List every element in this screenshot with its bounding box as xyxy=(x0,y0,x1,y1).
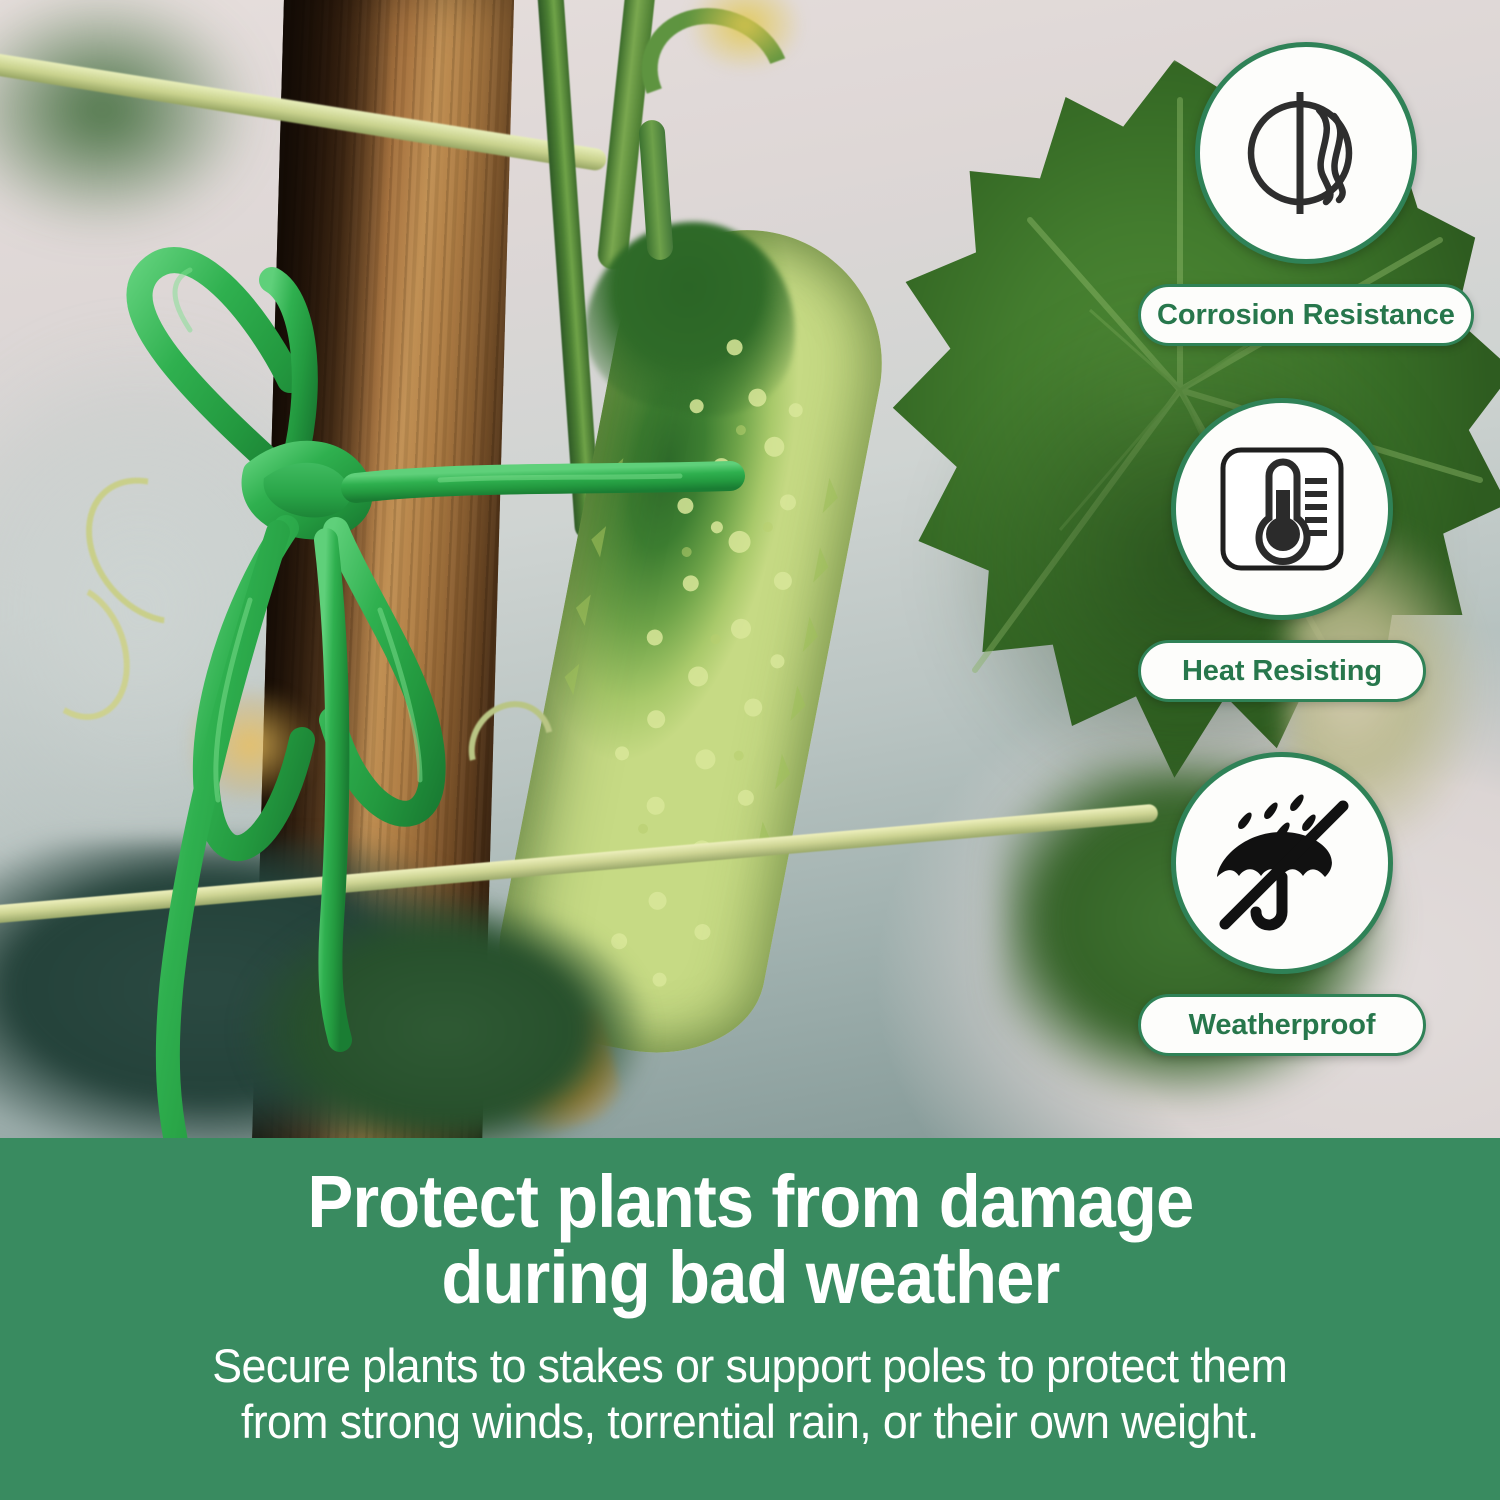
badge-label-text: Weatherproof xyxy=(1189,1009,1376,1042)
bottom-banner: Protect plants from damage during bad we… xyxy=(0,1138,1500,1500)
thermometer-icon xyxy=(1207,434,1357,584)
feature-badge-corrosion-resistance: Corrosion Resistance xyxy=(1138,42,1474,346)
badge-icon-circle xyxy=(1171,752,1393,974)
banner-headline-line-1: Protect plants from damage xyxy=(307,1164,1193,1240)
green-plant-tie-bow xyxy=(40,180,600,1140)
corrosion-resistance-icon xyxy=(1231,78,1381,228)
feature-badge-heat-resisting: Heat Resisting xyxy=(1138,398,1426,702)
banner-headline: Protect plants from damage during bad we… xyxy=(307,1164,1193,1316)
badge-label-text: Corrosion Resistance xyxy=(1157,299,1455,332)
badge-icon-circle xyxy=(1195,42,1417,264)
banner-headline-line-2: during bad weather xyxy=(307,1240,1193,1316)
banner-subtitle-line-2: from strong winds, torrential rain, or t… xyxy=(212,1394,1287,1449)
badge-label-pill: Weatherproof xyxy=(1138,994,1426,1056)
badge-label-pill: Corrosion Resistance xyxy=(1138,284,1474,346)
flower-blossom-top xyxy=(690,0,800,70)
banner-subtitle-line-1: Secure plants to stakes or support poles… xyxy=(212,1338,1287,1393)
badge-icon-circle xyxy=(1171,398,1393,620)
product-feature-image: Corrosion Resistance Heat Resisting xyxy=(0,0,1500,1500)
banner-subtitle: Secure plants to stakes or support poles… xyxy=(212,1338,1287,1449)
badge-label-pill: Heat Resisting xyxy=(1138,640,1426,702)
feature-badge-weatherproof: Weatherproof xyxy=(1138,752,1426,1056)
umbrella-no-rain-icon xyxy=(1203,784,1361,942)
badge-label-text: Heat Resisting xyxy=(1182,655,1382,688)
